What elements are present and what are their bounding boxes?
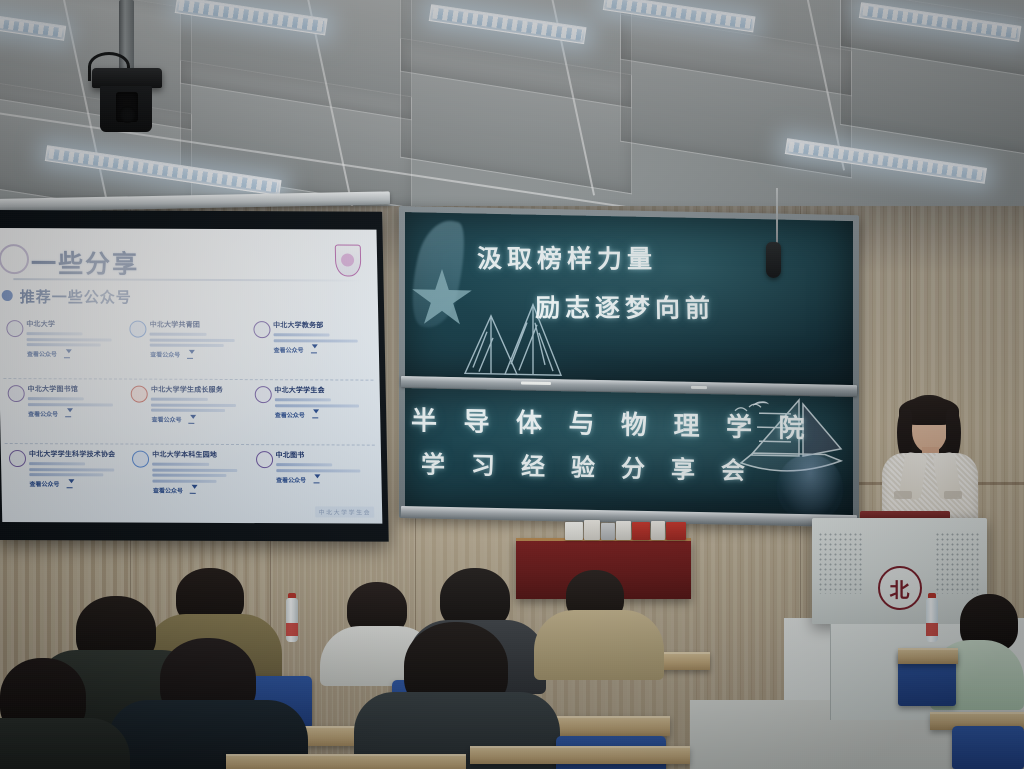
water-bottle (286, 598, 298, 642)
qr-download-icon[interactable] (189, 415, 195, 423)
description-line (26, 332, 83, 335)
account-name: 中北大学学生成长服务 (151, 385, 249, 395)
description-line (151, 398, 208, 401)
blackboard-upper-panel: 汲取榜样力量 励志逐梦向前 (405, 212, 853, 385)
blackboard-top-line1: 汲取榜样力量 (477, 239, 658, 275)
description-line (150, 344, 224, 347)
projector-lens-icon (116, 92, 138, 122)
account-card-footer: 查看公众号 (27, 349, 125, 358)
description-line (28, 403, 113, 406)
description-line (27, 338, 112, 341)
account-name: 中北大学图书馆 (28, 384, 126, 394)
gift-boxes (565, 519, 690, 540)
qr-download-icon[interactable] (312, 410, 318, 418)
account-avatar-icon (6, 320, 23, 337)
account-card-row: 中北大学查看公众号中北大学共青团查看公众号中北大学教务部查看公众号 (2, 314, 373, 381)
account-name: 中北大学教务部 (273, 320, 371, 330)
account-avatar-icon (131, 386, 148, 403)
university-crest-icon (335, 244, 362, 276)
description-line (29, 462, 86, 465)
description-line (276, 469, 361, 472)
description-line (274, 398, 331, 401)
audience-area (0, 540, 1024, 769)
description-line (273, 339, 358, 342)
account-card-row: 中北大学图书馆查看公众号中北大学学生成长服务查看公众号中北大学学生会查看公众号 (3, 379, 374, 446)
slide-left-logo-icon (0, 244, 29, 274)
account-card-footer: 查看公众号 (28, 409, 126, 418)
account-card-footer: 查看公众号 (275, 410, 373, 419)
audience-shoulders (0, 718, 130, 769)
qr-download-icon[interactable] (313, 475, 319, 483)
description-line (28, 397, 85, 400)
slide-content: 一些分享 推荐一些公众号 中北大学查看公众号中北大学共青团查看公众号中北大学教务… (0, 228, 382, 524)
account-avatar-icon (130, 321, 147, 338)
description-line (29, 473, 103, 476)
account-description (151, 398, 249, 412)
account-card-footer: 查看公众号 (276, 475, 374, 484)
account-avatar-icon (132, 451, 149, 468)
view-account-label[interactable]: 查看公众号 (153, 485, 183, 494)
desk (470, 746, 690, 764)
view-account-label[interactable]: 查看公众号 (275, 410, 305, 419)
description-line (153, 479, 216, 482)
description-line (152, 463, 209, 466)
description-line (153, 468, 238, 471)
account-description (274, 398, 372, 407)
account-card[interactable]: 中北大学学生会查看公众号 (252, 385, 372, 442)
description-line (27, 343, 101, 346)
account-description (150, 333, 248, 347)
description-line (153, 474, 227, 477)
description-line (151, 409, 225, 412)
account-card-footer: 查看公众号 (29, 479, 127, 488)
view-account-label[interactable]: 查看公众号 (273, 345, 303, 354)
account-avatar-icon (254, 386, 271, 403)
speaker-pocket-left (894, 491, 912, 499)
water-bottle (926, 598, 938, 642)
speaker-pocket-right (944, 491, 962, 499)
account-card-footer: 查看公众号 (151, 415, 249, 424)
account-avatar-icon (8, 385, 25, 402)
account-description (276, 463, 374, 472)
chair-back (952, 726, 1024, 769)
blackboard-bottom-line2: 学 习 经 验 分 享 会 (421, 444, 755, 486)
view-account-label[interactable]: 查看公众号 (151, 415, 181, 424)
account-name: 中北大学共青团 (150, 320, 248, 330)
description-line (150, 333, 207, 336)
account-card[interactable]: 中北大学共青团查看公众号 (128, 320, 248, 377)
account-card[interactable]: 中北大学本科生园地查看公众号 (130, 450, 250, 507)
speaker-person (868, 395, 990, 523)
account-description (29, 462, 127, 476)
account-card[interactable]: 中北图书查看公众号 (254, 450, 374, 507)
account-avatar-icon (256, 451, 273, 468)
account-card[interactable]: 中北大学学生科学技术协会查看公众号 (7, 449, 127, 506)
blackboard-lower-panel: 半 导 体 与 物 理 学 院 学 习 经 验 分 享 会 (405, 388, 853, 517)
description-line (150, 338, 235, 341)
slide-subtitle: 推荐一些公众号 (20, 286, 132, 307)
account-avatar-icon (253, 321, 270, 338)
audience-shoulders (534, 610, 664, 680)
view-account-label[interactable]: 查看公众号 (28, 409, 58, 418)
account-card-row: 中北大学学生科学技术协会查看公众号中北大学本科生园地查看公众号中北图书查看公众号 (5, 444, 376, 510)
description-line (276, 463, 333, 466)
qr-download-icon[interactable] (187, 350, 193, 358)
ceiling (0, 0, 1024, 218)
desk (898, 648, 958, 664)
account-card[interactable]: 中北大学教务部查看公众号 (251, 320, 371, 377)
account-description (152, 463, 250, 483)
view-account-label[interactable]: 查看公众号 (29, 479, 59, 488)
account-avatar-icon (9, 450, 26, 467)
account-card-footer: 查看公众号 (273, 345, 371, 354)
qr-download-icon[interactable] (190, 486, 196, 494)
account-description (26, 332, 124, 346)
account-description (28, 397, 126, 406)
account-card[interactable]: 中北大学图书馆查看公众号 (5, 384, 125, 441)
projector-body (92, 68, 162, 88)
qr-download-icon[interactable] (65, 409, 71, 417)
bullet-icon (2, 290, 13, 301)
slide-title: 一些分享 (31, 244, 140, 280)
account-name: 中北大学 (26, 319, 124, 329)
account-card-grid: 中北大学查看公众号中北大学共青团查看公众号中北大学教务部查看公众号中北大学图书馆… (2, 314, 376, 510)
qr-download-icon[interactable] (310, 345, 316, 353)
blackboard-bottom-line1: 半 导 体 与 物 理 学 院 (411, 400, 815, 445)
blackboard-top-line2: 励志逐梦向前 (535, 288, 716, 324)
account-name: 中北大学本科生园地 (152, 450, 250, 460)
account-card[interactable]: 中北大学查看公众号 (4, 319, 124, 376)
view-account-label[interactable]: 查看公众号 (150, 350, 180, 359)
description-line (151, 403, 236, 406)
account-card[interactable]: 中北大学学生成长服务查看公众号 (129, 385, 249, 442)
description-line (275, 404, 360, 407)
hanging-microphone (766, 242, 781, 278)
qr-download-icon[interactable] (66, 480, 72, 488)
qr-download-icon[interactable] (64, 350, 70, 358)
account-description (273, 333, 371, 342)
account-card-footer: 查看公众号 (150, 350, 248, 359)
account-name: 中北大学学生会 (274, 385, 372, 395)
view-account-label[interactable]: 查看公众号 (27, 349, 57, 358)
projection-screen: 一些分享 推荐一些公众号 中北大学查看公众号中北大学共青团查看公众号中北大学教务… (0, 210, 389, 542)
microphone-cable (776, 188, 778, 246)
description-line (29, 468, 114, 471)
lecture-hall-photo: 中北 一些分享 推荐一些公众号 中北大学查看公众号中北大学共青团查看公众号中北大… (0, 0, 1024, 769)
account-card-footer: 查看公众号 (153, 485, 251, 494)
blackboard: 汲取榜样力量 励志逐梦向前 半 导 体 与 物 理 学 院 学 习 经 验 分 … (399, 206, 859, 527)
description-line (273, 333, 330, 336)
account-name: 中北图书 (276, 450, 374, 460)
view-account-label[interactable]: 查看公众号 (276, 475, 306, 484)
slide-watermark: 中北大学学生会 (315, 506, 374, 517)
desk (226, 754, 466, 769)
account-name: 中北大学学生科学技术协会 (29, 449, 127, 459)
slide-divider (13, 278, 363, 282)
